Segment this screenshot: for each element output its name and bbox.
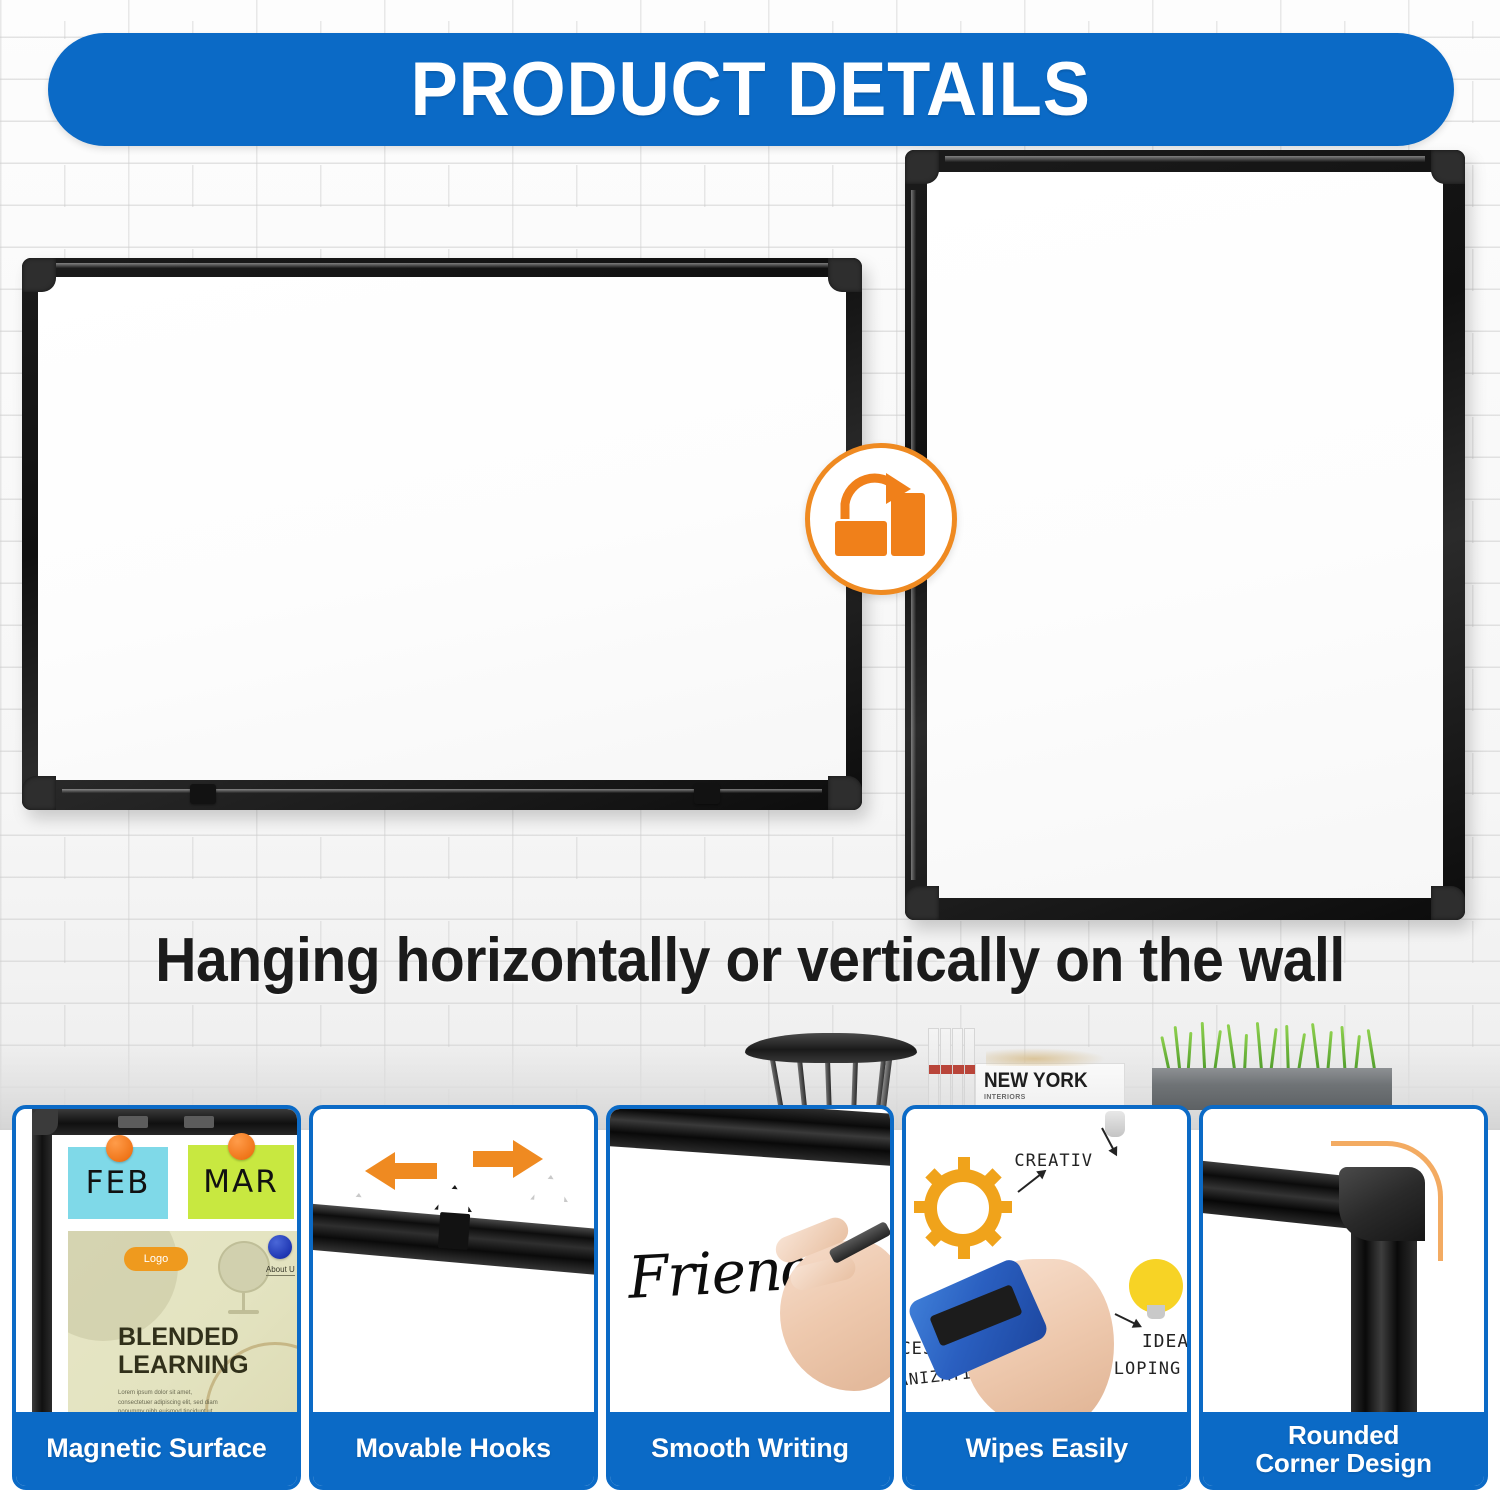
magnet-icon — [268, 1235, 292, 1259]
banner-title: PRODUCT DETAILS — [411, 52, 1091, 128]
globe-base-icon — [228, 1310, 259, 1314]
poster-nav-link: About U — [266, 1265, 295, 1276]
corner-bracket-bottom-right — [828, 776, 862, 810]
grass-plant — [1158, 1020, 1388, 1072]
hook-block-right — [694, 784, 720, 804]
corner-bracket-top-left — [22, 258, 56, 292]
corner-bracket-top-right — [1431, 150, 1465, 184]
book-title: NEW YORK — [984, 1069, 1088, 1093]
book-subtitle: INTERIORS — [984, 1094, 1026, 1101]
poster-body-text: Lorem ipsum dolor sit amet, consectetuer… — [118, 1389, 226, 1412]
product-details-banner: PRODUCT DETAILS — [48, 33, 1454, 146]
rounded-corner-illustration — [1203, 1109, 1484, 1412]
poster-heading: BLENDED LEARNING — [118, 1323, 249, 1379]
feature-card-smooth-writing[interactable]: Friend Smooth Writing — [606, 1105, 895, 1490]
rotate-orientation-badge — [805, 443, 957, 595]
smooth-writing-illustration: Friend — [610, 1109, 891, 1412]
sketch-arrow-icon — [1115, 1313, 1141, 1327]
feature-card-wipes-easily[interactable]: CREATIV IDEA LOPING CESS ANIZATI — [902, 1105, 1191, 1490]
corner-bracket-bottom-right — [1431, 886, 1465, 920]
poster-logo-badge: Logo — [124, 1247, 188, 1271]
corner-bracket-bottom-left — [22, 776, 56, 810]
poster-heading-line1: BLENDED — [118, 1323, 239, 1351]
feature-card-rounded-corner-design[interactable]: RoundedCorner Design — [1199, 1105, 1488, 1490]
corner-bracket-top-left — [905, 150, 939, 184]
feature-caption-smooth-writing: Smooth Writing — [610, 1412, 891, 1486]
product-detail-page: PRODUCT DETAILS — [0, 0, 1500, 1490]
blended-learning-poster: Logo About U BLENDED LEARNING Lorem ipsu… — [68, 1231, 297, 1412]
book-cover-art — [986, 1048, 1106, 1066]
corner-bracket-top-right — [828, 258, 862, 292]
whiteboard-surface: FEB MAR Logo About U BLENDED — [52, 1135, 297, 1412]
sketch-word: IDEA — [1142, 1331, 1187, 1352]
caption-text: RoundedCorner Design — [1255, 1421, 1432, 1477]
poster-heading-line2: LEARNING — [118, 1351, 249, 1379]
board-top-rail — [34, 1109, 297, 1135]
hook-block-left — [190, 784, 216, 804]
sketch-arrow-icon — [1018, 1170, 1046, 1193]
sketch-word: LOPING — [1114, 1359, 1181, 1379]
new-york-book: NEW YORK INTERIORS — [975, 1063, 1125, 1109]
board-left-rail — [32, 1109, 52, 1412]
arrow-left-icon — [365, 1152, 395, 1190]
movable-hooks-illustration — [313, 1109, 594, 1412]
wipes-easily-illustration: CREATIV IDEA LOPING CESS ANIZATI — [906, 1109, 1187, 1412]
corner-bracket-icon — [1339, 1167, 1425, 1241]
vertical-whiteboard — [905, 150, 1465, 920]
corner-bracket-bottom-left — [905, 886, 939, 920]
planter-box — [1152, 1068, 1392, 1110]
arrow-left-shaft — [391, 1163, 437, 1179]
board-top-rail — [610, 1109, 891, 1168]
horizontal-whiteboard — [22, 258, 862, 810]
feature-card-row: FEB MAR Logo About U BLENDED — [0, 1105, 1500, 1490]
corner-bracket-icon — [32, 1109, 58, 1135]
magnet-icon — [228, 1133, 255, 1160]
page-headline: Hanging horizontally or vertically on th… — [60, 925, 1440, 996]
eraser-felt — [930, 1284, 1024, 1347]
magnet-icon — [106, 1135, 133, 1162]
feature-card-magnetic-surface[interactable]: FEB MAR Logo About U BLENDED — [12, 1105, 301, 1490]
book-stack — [928, 1028, 978, 1108]
chair-backrest — [745, 1033, 917, 1063]
rotate-orientation-icon — [831, 471, 931, 567]
sketch-word: CREATIV — [1014, 1151, 1093, 1171]
feature-caption-magnetic-surface: Magnetic Surface — [16, 1412, 297, 1486]
frame-highlight-top — [945, 156, 1425, 162]
marker-cap-icon — [1105, 1111, 1125, 1137]
feature-caption-movable-hooks: Movable Hooks — [313, 1412, 594, 1486]
feature-caption-wipes-easily: Wipes Easily — [906, 1412, 1187, 1486]
hook-slider-block — [438, 1212, 470, 1250]
feature-caption-rounded-corner-design: RoundedCorner Design — [1203, 1412, 1484, 1486]
arrow-right-icon — [513, 1140, 543, 1178]
frame-highlight-top — [52, 263, 832, 268]
globe-stand-icon — [242, 1293, 245, 1311]
hook-icon — [434, 1184, 474, 1213]
magnetic-surface-illustration: FEB MAR Logo About U BLENDED — [16, 1109, 297, 1412]
horizontal-whiteboard-surface — [38, 277, 846, 780]
vertical-whiteboard-surface — [927, 172, 1443, 898]
feature-card-movable-hooks[interactable]: Movable Hooks — [309, 1105, 598, 1490]
globe-icon — [218, 1241, 270, 1293]
lightbulb-base-icon — [1147, 1305, 1165, 1319]
